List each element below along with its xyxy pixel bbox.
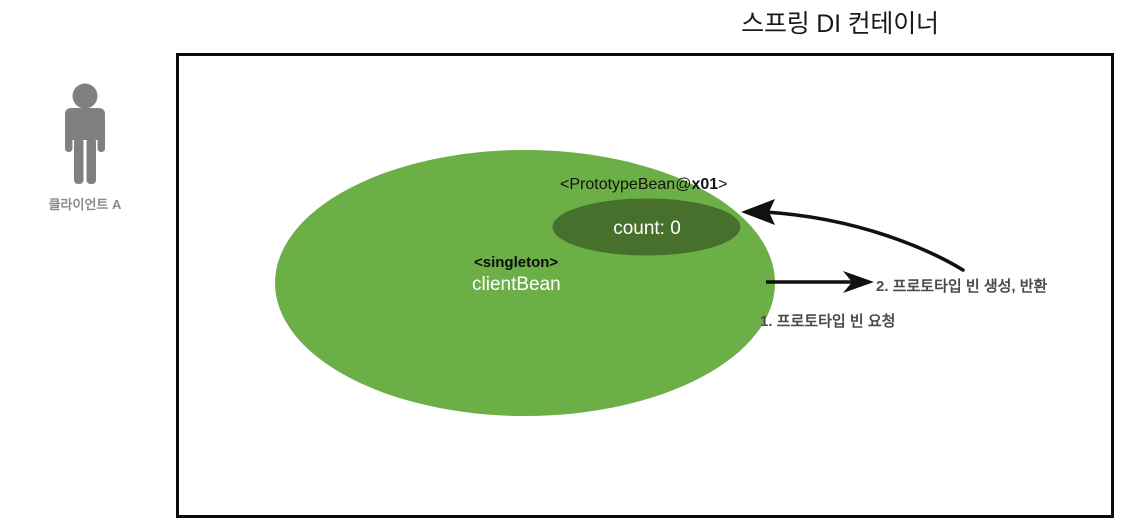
prototype-bean-identity-hash: x01 [691,176,718,193]
client-actor-label: 클라이언트 A [18,194,152,213]
singleton-stereotype-label: <singleton> [474,254,558,271]
singleton-bean-name: clientBean [472,274,561,296]
client-actor: 클라이언트 A [18,82,152,222]
prototype-bean-identity: <PrototypeBean@x01> [560,176,727,194]
flow-step-1-label: 1. 프로토타입 빈 요청 [760,310,895,331]
person-icon [18,82,152,187]
prototype-bean-count: count: 0 [553,218,741,240]
flow-step-2-label: 2. 프로토타입 빈 생성, 반환 [876,275,1047,296]
page-title: 스프링 DI 컨테이너 [640,4,1040,40]
